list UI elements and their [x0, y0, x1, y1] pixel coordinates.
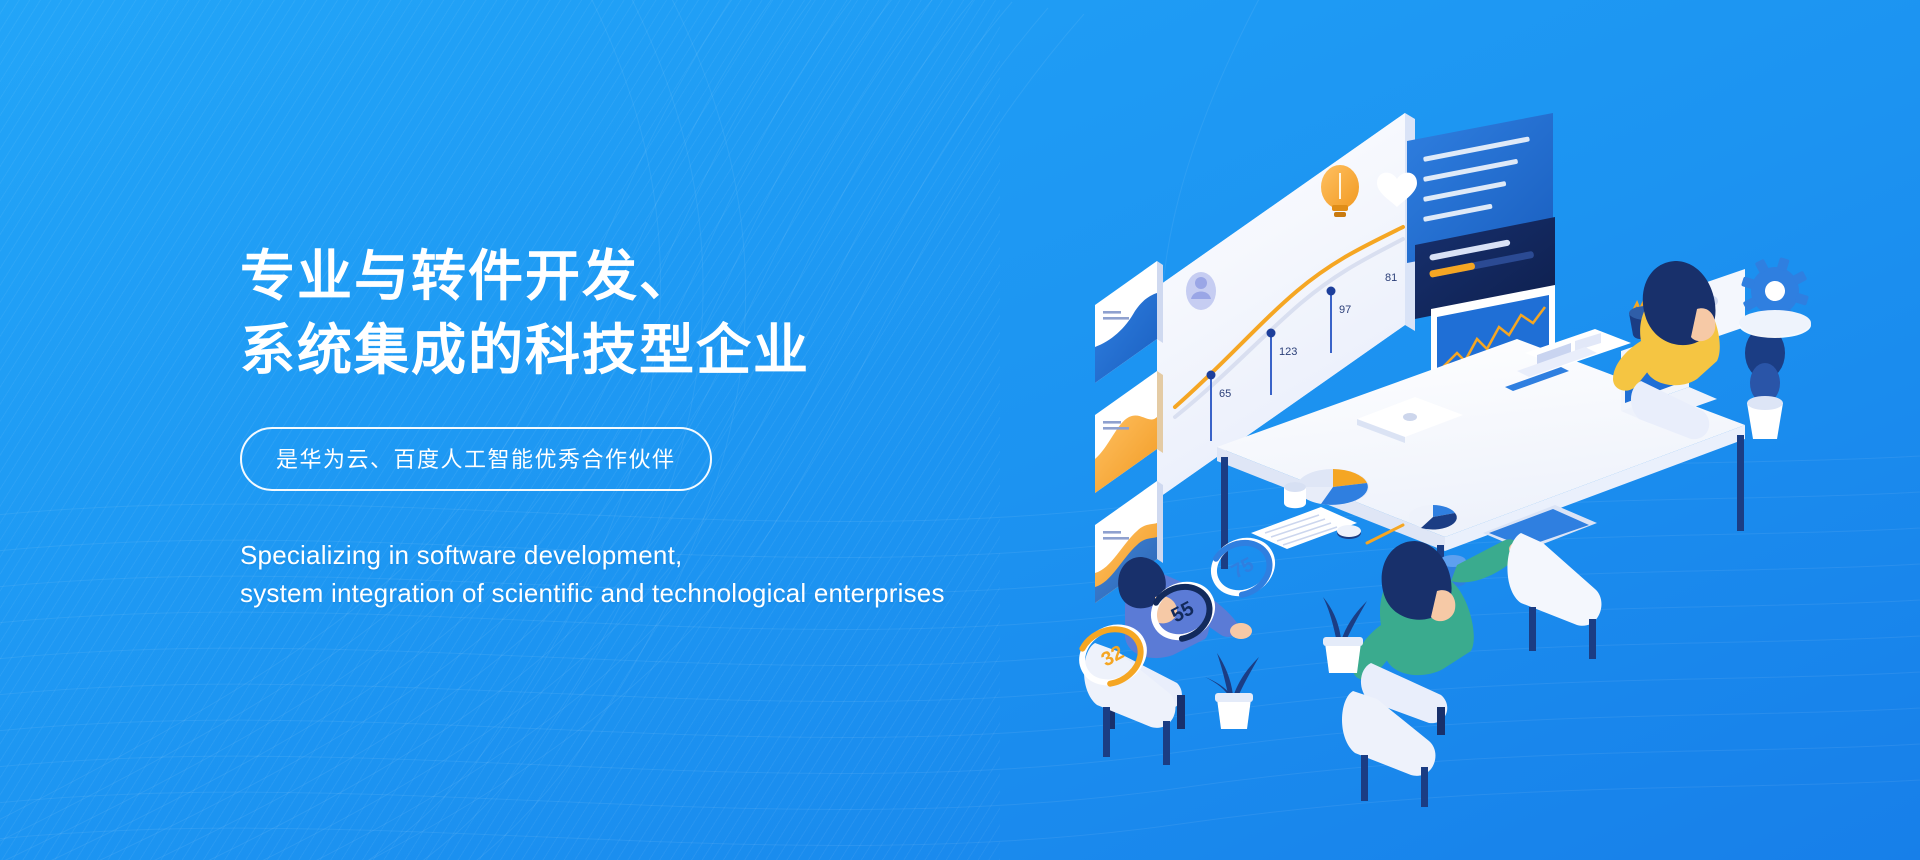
chair-back: [1507, 533, 1601, 659]
hero-illustration: 65 123 97 81: [1085, 95, 1825, 735]
plant-small: [1205, 653, 1259, 729]
hero-banner: 专业与转件开发、 系统集成的科技型企业 是华为云、百度人工智能优秀合作伙伴 Sp…: [0, 0, 1920, 860]
subtitle-line-1: Specializing in software development,: [240, 537, 1140, 575]
mini-chart-cards: [1095, 261, 1163, 603]
chair-left: [1084, 643, 1175, 765]
pie-chart-large: [1297, 469, 1369, 505]
chart-label-65: 65: [1219, 388, 1231, 400]
subtitle-line-2: system integration of scientific and tec…: [240, 575, 1140, 613]
svg-text:75: 75: [1228, 553, 1258, 583]
headline-line-1: 专业与转件开发、: [240, 240, 1140, 314]
chart-label-97: 97: [1339, 304, 1351, 316]
report-sheet: [1251, 507, 1361, 549]
avatar: [1186, 272, 1216, 310]
page-title: 专业与转件开发、 系统集成的科技型企业: [240, 240, 1140, 387]
chart-label-123: 123: [1279, 346, 1297, 358]
headline-line-2: 系统集成的科技型企业: [240, 314, 1140, 388]
coffee-mug-white: [1284, 482, 1306, 508]
gauge-75: 75: [1205, 531, 1281, 603]
topiary-plant: [1745, 327, 1785, 439]
partner-badge[interactable]: 是华为云、百度人工智能优秀合作伙伴: [240, 427, 712, 491]
hero-copy: 专业与转件开发、 系统集成的科技型企业 是华为云、百度人工智能优秀合作伙伴 Sp…: [240, 240, 1140, 613]
hero-subtitle: Specializing in software development, sy…: [240, 537, 1140, 612]
chart-label-81: 81: [1385, 272, 1397, 284]
